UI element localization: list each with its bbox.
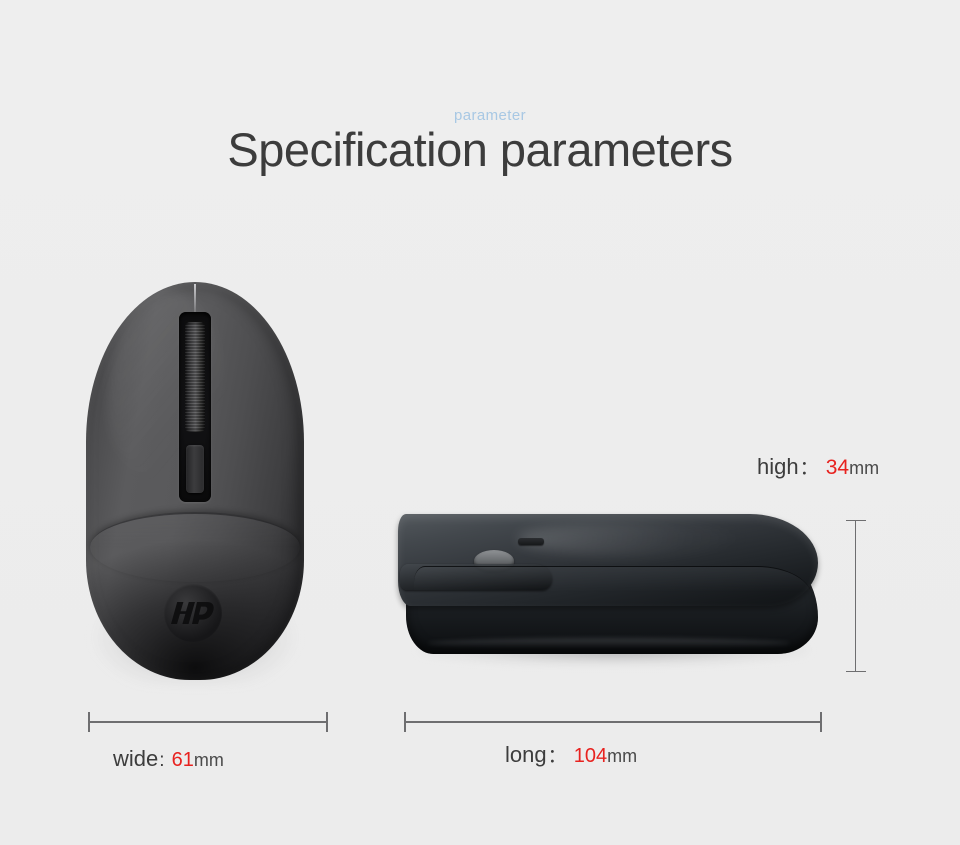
width-value: 61 bbox=[172, 749, 194, 771]
height-label-separator: ： bbox=[799, 458, 820, 479]
height-label: high： 34mm bbox=[757, 456, 879, 478]
dpi-button-icon bbox=[186, 445, 204, 493]
height-value: 34 bbox=[826, 456, 849, 479]
length-label: long： 104mm bbox=[505, 744, 637, 766]
mouse-side-bottom-rim bbox=[428, 638, 790, 648]
width-tick-left bbox=[88, 712, 90, 732]
length-label-text: long bbox=[505, 742, 547, 767]
mouse-side-view-image bbox=[398, 508, 826, 674]
width-label-separator: : bbox=[158, 750, 165, 771]
mouse-top-body bbox=[86, 282, 304, 680]
width-label-text: wide bbox=[113, 746, 158, 771]
page-header: parameter Specification parameters bbox=[0, 108, 960, 176]
height-cap-bottom bbox=[846, 671, 866, 672]
length-tick-right bbox=[820, 712, 822, 732]
length-value: 104 bbox=[574, 745, 607, 767]
width-tick-right bbox=[326, 712, 328, 732]
width-dimension-line bbox=[88, 712, 328, 732]
length-dimension-bar bbox=[404, 721, 822, 723]
height-dimension-bar bbox=[855, 520, 856, 672]
mouse-side-button-nub bbox=[518, 538, 544, 545]
height-cap-top bbox=[846, 520, 866, 521]
height-unit: mm bbox=[849, 458, 879, 478]
width-label: wide: 61mm bbox=[113, 748, 224, 770]
hp-logo-icon bbox=[164, 584, 222, 642]
mouse-side-gloss bbox=[518, 522, 748, 556]
watermark-text: parameter bbox=[10, 108, 960, 123]
page-title: Specification parameters bbox=[0, 125, 960, 176]
height-dimension-line bbox=[846, 520, 866, 672]
length-dimension-line bbox=[404, 712, 822, 732]
scroll-wheel-icon bbox=[185, 322, 205, 432]
length-unit: mm bbox=[607, 746, 637, 766]
scroll-wheel-slot bbox=[179, 312, 211, 502]
mouse-top-view-image bbox=[86, 282, 304, 686]
width-unit: mm bbox=[194, 750, 224, 770]
length-label-separator: ： bbox=[547, 746, 568, 767]
length-tick-left bbox=[404, 712, 406, 732]
mouse-palm-seam bbox=[90, 512, 300, 582]
specification-page: parameter Specification parameters bbox=[0, 0, 960, 845]
height-label-text: high bbox=[757, 454, 799, 479]
width-dimension-bar bbox=[88, 721, 328, 723]
mouse-side-seam bbox=[414, 566, 812, 622]
